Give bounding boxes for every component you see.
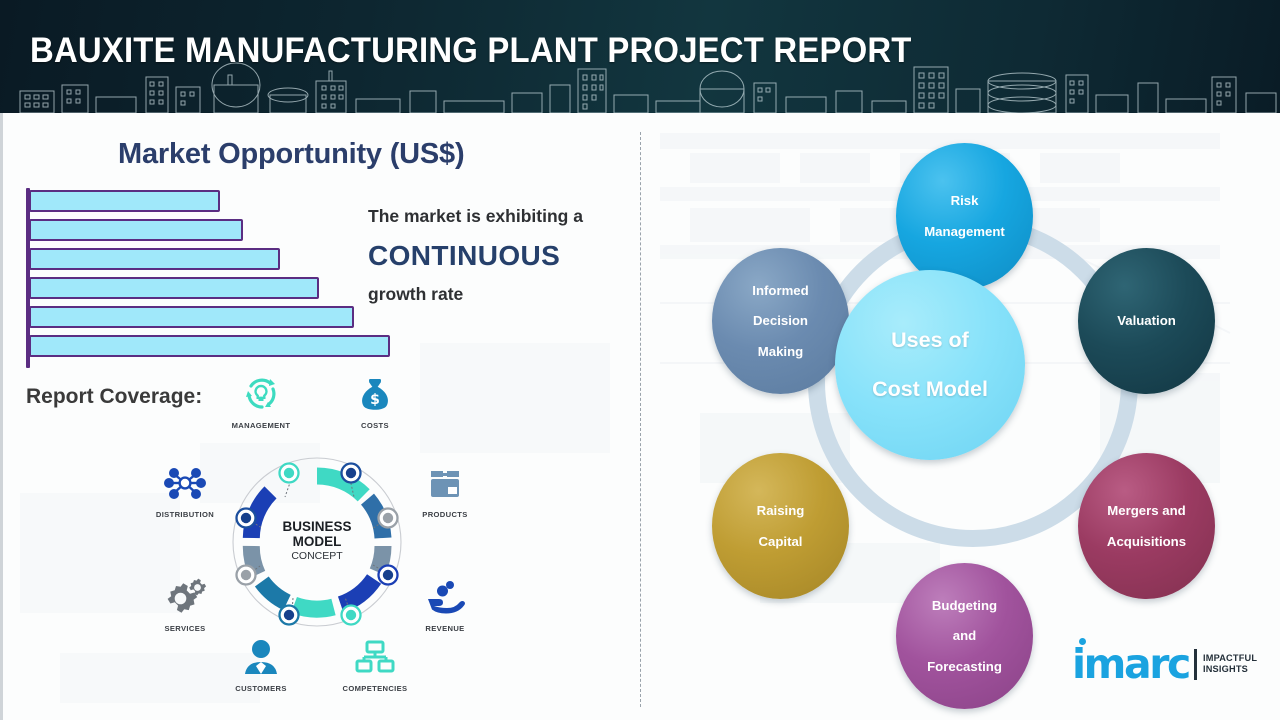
page-title: BAUXITE MANUFACTURING PLANT PROJECT REPO… bbox=[30, 31, 912, 71]
coverage-label: PRODUCTS bbox=[399, 510, 491, 519]
node-line-3: Making bbox=[746, 344, 814, 359]
node-line-1: Mergers and bbox=[1101, 503, 1192, 518]
coverage-item-competencies: COMPETENCIES bbox=[329, 634, 421, 693]
coverage-label: SERVICES bbox=[139, 624, 231, 633]
node-line-1: Informed bbox=[746, 283, 814, 298]
callout-highlight: CONTINUOUS bbox=[368, 240, 560, 272]
node-informed-decision-making[interactable]: Informed Decision Making bbox=[712, 248, 849, 394]
gears-icon bbox=[139, 574, 231, 620]
header-banner: BAUXITE MANUFACTURING PLANT PROJECT REPO… bbox=[0, 0, 1280, 113]
network-nodes-icon bbox=[139, 460, 231, 506]
money-bag-icon: $ bbox=[329, 371, 421, 417]
coverage-label: COSTS bbox=[329, 421, 421, 430]
user-person-icon bbox=[215, 634, 307, 680]
logo-tagline-line2: INSIGHTS bbox=[1203, 664, 1257, 676]
node-line-2: and bbox=[921, 628, 1008, 643]
market-opportunity-title: Market Opportunity (US$) bbox=[118, 138, 464, 171]
box-package-icon bbox=[399, 460, 491, 506]
center-line-2: Cost Model bbox=[866, 377, 994, 402]
coverage-item-customers: CUSTOMERS bbox=[215, 634, 307, 693]
chart-bar bbox=[29, 335, 390, 357]
logo-tagline-line1: IMPACTFUL bbox=[1203, 653, 1257, 665]
market-opportunity-bar-chart bbox=[26, 188, 406, 368]
chart-bar bbox=[29, 277, 319, 299]
logo-tagline: IMPACTFUL INSIGHTS bbox=[1203, 653, 1257, 676]
chart-bar bbox=[29, 248, 280, 270]
slide: BAUXITE MANUFACTURING PLANT PROJECT REPO… bbox=[0, 0, 1280, 720]
coverage-item-products: PRODUCTS bbox=[399, 460, 491, 519]
node-budgeting-and-forecasting[interactable]: Budgeting and Forecasting bbox=[896, 563, 1033, 709]
chart-bar bbox=[29, 306, 354, 328]
coverage-label: CUSTOMERS bbox=[215, 684, 307, 693]
coverage-item-management: MANAGEMENT bbox=[215, 371, 307, 430]
donut-center-line2: MODEL bbox=[251, 535, 383, 550]
logo-wordmark: imarc bbox=[1072, 648, 1189, 681]
node-line-1: Risk bbox=[918, 193, 1011, 208]
node-line-3: Forecasting bbox=[921, 659, 1008, 674]
business-model-infographic: BUSINESS MODEL CONCEPT MANAGEMENT bbox=[145, 372, 515, 702]
hand-coins-icon bbox=[399, 574, 491, 620]
callout-line-3: growth rate bbox=[368, 284, 463, 305]
node-mergers-and-acquisitions[interactable]: Mergers and Acquisitions bbox=[1078, 453, 1215, 599]
donut-center-line1: BUSINESS bbox=[251, 520, 383, 535]
node-raising-capital[interactable]: Raising Capital bbox=[712, 453, 849, 599]
chart-bar bbox=[29, 219, 243, 241]
chart-bar bbox=[29, 190, 220, 212]
donut-center-label: BUSINESS MODEL CONCEPT bbox=[251, 520, 383, 562]
donut-center-line3: CONCEPT bbox=[251, 551, 383, 563]
node-line-2: Acquisitions bbox=[1101, 534, 1192, 549]
node-line-2: Decision bbox=[746, 313, 814, 328]
coverage-item-distribution: DISTRIBUTION bbox=[139, 460, 231, 519]
node-line-2: Management bbox=[918, 224, 1011, 239]
uses-of-cost-model-diagram: Risk Management Valuation Mergers and Ac… bbox=[640, 113, 1280, 720]
logo-divider bbox=[1194, 649, 1197, 680]
coverage-label: COMPETENCIES bbox=[329, 684, 421, 693]
callout-line-1: The market is exhibiting a bbox=[368, 206, 583, 227]
coverage-item-costs: $ COSTS bbox=[329, 371, 421, 430]
node-line-1: Raising bbox=[751, 503, 811, 518]
node-risk-management[interactable]: Risk Management bbox=[896, 143, 1033, 289]
imarc-logo[interactable]: imarc IMPACTFUL INSIGHTS bbox=[1072, 648, 1257, 681]
node-line-2: Capital bbox=[751, 534, 811, 549]
coverage-label: REVENUE bbox=[399, 624, 491, 633]
org-chart-icon bbox=[329, 634, 421, 680]
coverage-item-services: SERVICES bbox=[139, 574, 231, 633]
node-line-1: Budgeting bbox=[921, 598, 1008, 613]
node-line-1: Valuation bbox=[1111, 313, 1182, 328]
lightbulb-recycle-icon bbox=[215, 371, 307, 417]
svg-text:$: $ bbox=[370, 392, 380, 408]
node-valuation[interactable]: Valuation bbox=[1078, 248, 1215, 394]
coverage-label: DISTRIBUTION bbox=[139, 510, 231, 519]
center-line-1: Uses of bbox=[866, 328, 994, 353]
coverage-item-revenue: REVENUE bbox=[399, 574, 491, 633]
coverage-label: MANAGEMENT bbox=[215, 421, 307, 430]
node-center-uses-of-cost-model[interactable]: Uses of Cost Model bbox=[835, 270, 1025, 460]
